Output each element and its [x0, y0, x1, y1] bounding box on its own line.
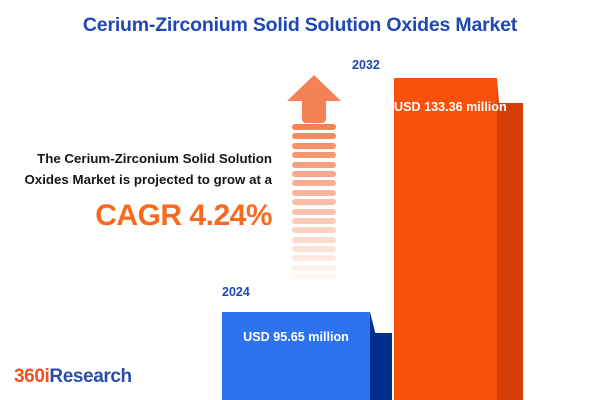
arrow-segment: [292, 199, 336, 205]
arrow-segment: [292, 218, 336, 224]
arrow-segment: [292, 237, 336, 243]
arrow-segment: [292, 255, 336, 261]
arrow-segment: [292, 162, 336, 168]
arrow-segment: [292, 171, 336, 177]
logo-text-research: Research: [49, 366, 131, 387]
infographic-canvas: Cerium-Zirconium Solid Solution Oxides M…: [0, 0, 600, 400]
arrow-shaft-segments: [292, 124, 336, 296]
arrow-segment: [292, 152, 336, 158]
bar-label-year-2032: 2032: [352, 58, 380, 72]
bar-2024-side-face: [370, 333, 392, 400]
brand-logo: 360iResearch: [14, 366, 132, 388]
arrow-segment: [292, 293, 336, 299]
arrow-segment: [292, 227, 336, 233]
arrow-segment: [292, 274, 336, 280]
logo-text-360: 360: [14, 366, 45, 387]
bar-2032-side-face: [497, 103, 523, 400]
bar-2032-value-label: USD 133.36 million: [394, 100, 497, 114]
arrow-segment: [292, 143, 336, 149]
bar-2032-front-face: USD 133.36 million: [394, 78, 497, 400]
arrow-segment: [292, 133, 336, 139]
arrow-segment: [292, 124, 336, 130]
arrow-up-head-icon: [286, 74, 342, 124]
growth-arrow-icon: [286, 74, 342, 296]
arrow-segment: [292, 180, 336, 186]
arrow-segment: [292, 284, 336, 290]
arrow-segment: [292, 190, 336, 196]
callout-block: The Cerium-Zirconium Solid Solution Oxid…: [10, 148, 272, 233]
bar-label-year-2024: 2024: [222, 285, 250, 299]
bar-2024-value-label: USD 95.65 million: [222, 330, 370, 344]
cagr-value: CAGR 4.24%: [10, 199, 272, 233]
bar-2024-front-face: USD 95.65 million: [222, 312, 370, 400]
arrow-segment: [292, 209, 336, 215]
arrow-segment: [292, 246, 336, 252]
callout-description: The Cerium-Zirconium Solid Solution Oxid…: [10, 148, 272, 190]
arrow-segment: [292, 265, 336, 271]
page-title: Cerium-Zirconium Solid Solution Oxides M…: [0, 14, 600, 37]
